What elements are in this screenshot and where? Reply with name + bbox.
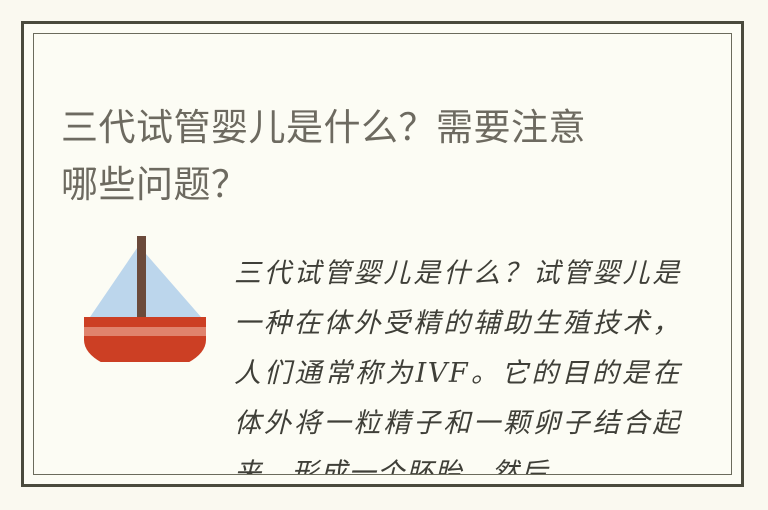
sailboat-svg [78,222,218,362]
card-content: 三代试管婴儿是什么？需要注意 哪些问题？ [34,34,731,474]
inner-decorative-frame: 三代试管婴儿是什么？需要注意 哪些问题？ [33,33,732,475]
article-body: 三代试管婴儿是什么？试管婴儿是一种在体外受精的辅助生殖技术，人们通常称为IVF。… [34,200,731,474]
outer-decorative-frame: 三代试管婴儿是什么？需要注意 哪些问题？ [21,21,744,487]
article-paragraph: 三代试管婴儿是什么？试管婴儿是一种在体外受精的辅助生殖技术，人们通常称为IVF。… [234,249,681,475]
page-title: 三代试管婴儿是什么？需要注意 哪些问题？ [61,99,691,213]
sailboat-icon [78,222,218,362]
article-card: 三代试管婴儿是什么？需要注意 哪些问题？ [0,0,768,510]
